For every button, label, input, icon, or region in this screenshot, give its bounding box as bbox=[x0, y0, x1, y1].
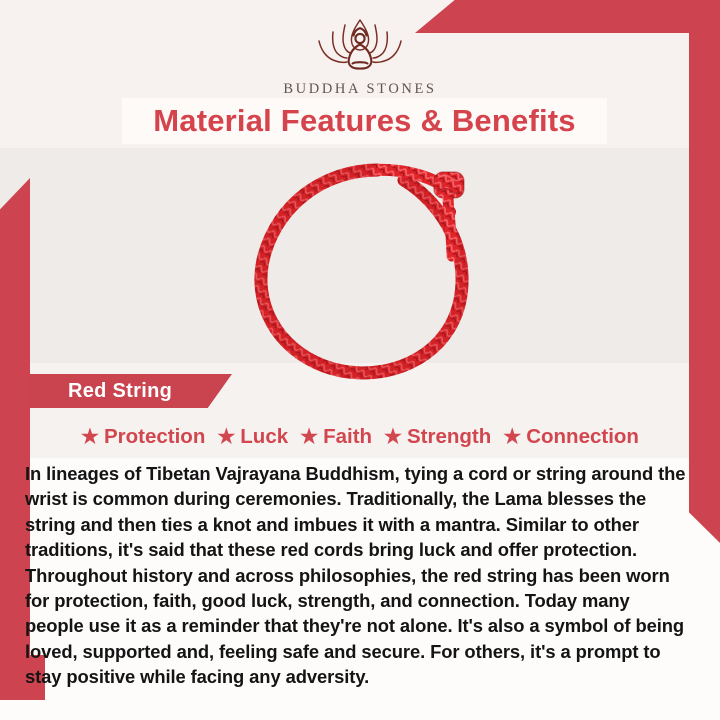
star-icon: ★ bbox=[384, 427, 402, 447]
product-name-banner: Red String bbox=[30, 374, 232, 408]
infographic-page: BUDDHA STONES Material Features & Benefi… bbox=[0, 0, 720, 720]
page-title: Material Features & Benefits bbox=[153, 103, 576, 139]
feature-label: Faith bbox=[323, 425, 372, 449]
feature-label: Luck bbox=[240, 425, 288, 449]
product-name: Red String bbox=[68, 380, 172, 403]
brand-name: BUDDHA STONES bbox=[283, 81, 436, 98]
description-text: In lineages of Tibetan Vajrayana Buddhis… bbox=[25, 461, 693, 690]
page-title-banner: Material Features & Benefits bbox=[122, 98, 607, 144]
feature-item-luck: ★ Luck bbox=[217, 425, 288, 449]
star-icon: ★ bbox=[81, 427, 99, 447]
product-image bbox=[228, 152, 518, 392]
lotus-meditation-figure-icon bbox=[297, 16, 423, 78]
feature-label: Connection bbox=[526, 425, 639, 449]
feature-item-strength: ★ Strength bbox=[384, 425, 491, 449]
brand-logo: BUDDHA STONES bbox=[0, 16, 720, 98]
star-icon: ★ bbox=[217, 427, 235, 447]
feature-list: ★ Protection ★ Luck ★ Faith ★ Strength ★… bbox=[30, 420, 690, 454]
star-icon: ★ bbox=[503, 427, 521, 447]
feature-label: Strength bbox=[407, 425, 491, 449]
feature-item-connection: ★ Connection bbox=[503, 425, 639, 449]
feature-item-protection: ★ Protection bbox=[81, 425, 205, 449]
feature-item-faith: ★ Faith bbox=[300, 425, 372, 449]
star-icon: ★ bbox=[300, 427, 318, 447]
feature-label: Protection bbox=[104, 425, 205, 449]
decorative-bar-right bbox=[689, 33, 720, 543]
